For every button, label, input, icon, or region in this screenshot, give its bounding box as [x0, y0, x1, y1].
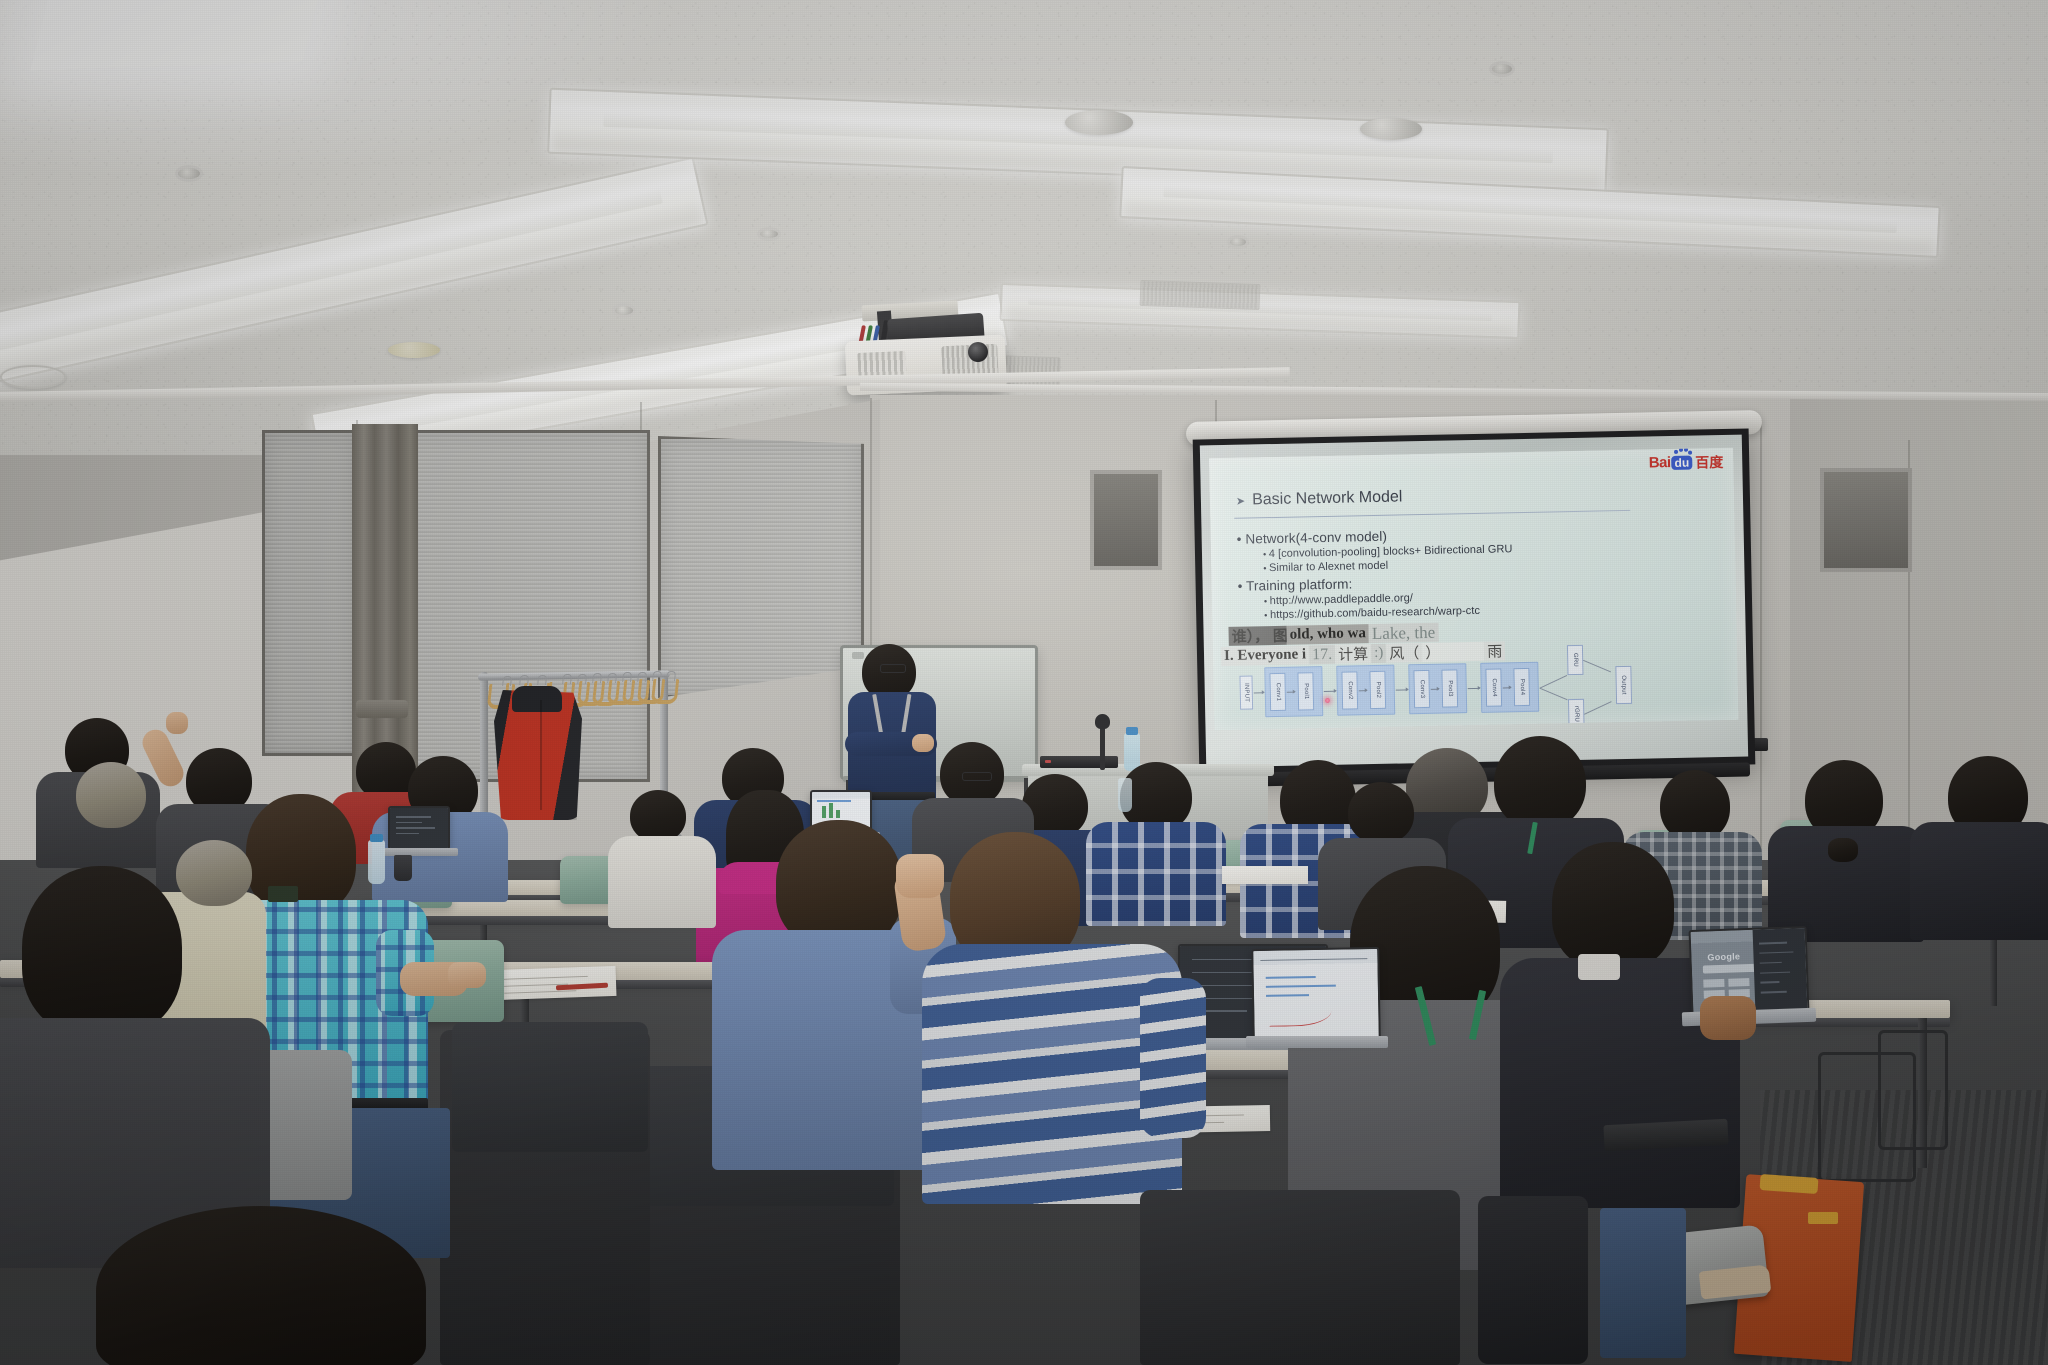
laptop-screen-plot[interactable]: [1251, 947, 1381, 1041]
person-head: [1348, 782, 1414, 844]
presenter-hand: [912, 734, 934, 752]
diagram-connector: [1540, 675, 1568, 689]
diagram-node-pool1: Pool1: [1297, 672, 1314, 710]
ceiling-speaker-icon: [1065, 110, 1133, 135]
diagram-node-label: rGRU: [1573, 706, 1579, 722]
slide-title: Basic Network Model: [1252, 488, 1403, 509]
paw-print-icon: [1674, 448, 1692, 457]
baidu-logo-du-text: du: [1674, 455, 1689, 469]
slide-title-divider: [1234, 510, 1630, 519]
diagram-connector: [1540, 688, 1568, 701]
window-with-blinds: [658, 436, 864, 698]
ocr-chip: old, who wa: [1286, 624, 1369, 645]
person-hand: [448, 962, 486, 988]
diagram-arrow: [1287, 692, 1295, 693]
chair-frame[interactable]: [1878, 1030, 1948, 1150]
paper-sheet: [1222, 866, 1308, 884]
whiteboard-magnet: [852, 652, 864, 659]
person-head: [246, 794, 356, 914]
diagram-node-label: INPUT: [1243, 683, 1249, 702]
shortcut-tile[interactable]: [1704, 978, 1725, 987]
diagram-arrow: [1359, 690, 1367, 691]
microphone-icon: [1095, 714, 1110, 729]
diagram-connector: [1584, 701, 1612, 715]
diagram-node-label: Pool2: [1375, 682, 1381, 698]
person-head: [1552, 842, 1674, 970]
diagram-node-output: Output: [1615, 666, 1632, 704]
laptop-screen[interactable]: [388, 806, 450, 850]
diagram-arrow: [1254, 692, 1264, 693]
bottle-cap: [370, 834, 383, 842]
person-head: [1828, 838, 1858, 862]
slide-body: Network(4-conv model) 4 [convolution-poo…: [1236, 518, 1726, 624]
status-led: [1045, 760, 1051, 763]
person-torso: [1086, 822, 1226, 926]
wall-seam: [1760, 420, 1762, 850]
person-head: [1494, 736, 1586, 830]
chair[interactable]: [1140, 1190, 1460, 1365]
google-logo-text: Google: [1707, 952, 1740, 963]
person-head: [776, 820, 902, 948]
diagram-node-label: Pool4: [1519, 679, 1525, 695]
ceiling-skylight-panel: [30, 0, 324, 71]
jacket-zipper: [540, 700, 542, 810]
glasses-icon: [962, 772, 992, 781]
diagram-node-conv4: Conv4: [1485, 668, 1502, 706]
baidu-logo: Bai du 百度: [1649, 454, 1724, 470]
diagram-node-gru: GRU: [1567, 645, 1584, 675]
jacket-hood: [512, 686, 562, 712]
water-bottle: [1124, 733, 1140, 771]
water-bottle: [1118, 778, 1132, 812]
bag-dark: [1478, 1196, 1588, 1364]
smoke-detector-icon: [178, 168, 200, 179]
water-bottle: [368, 840, 385, 884]
diagram-node-pool4: Pool4: [1513, 668, 1530, 706]
diagram-arrow: [1468, 688, 1480, 689]
baidu-logo-chinese: 百度: [1695, 454, 1723, 469]
coat-draped: [452, 1022, 648, 1152]
diagram-node-input: INPUT: [1239, 675, 1253, 709]
microphone-stem: [1100, 724, 1105, 770]
diagram-node-label: GRU: [1572, 653, 1578, 667]
projection-screen: Bai du 百度 ➤ Basic Network Model Network(…: [1200, 435, 1748, 768]
person-head: [176, 840, 252, 906]
window-curtain: [352, 424, 418, 796]
diagram-node-label: Pool1: [1303, 683, 1309, 699]
person-jeans: [1600, 1208, 1686, 1358]
person-arm: [1140, 978, 1206, 1138]
ocr-chip: 谁）， 图: [1228, 626, 1286, 646]
diagram-node-pool2: Pool2: [1369, 671, 1386, 709]
baidu-logo-bai: Bai: [1649, 455, 1671, 470]
person-head: [22, 866, 182, 1036]
diagram-connector: [1583, 660, 1611, 673]
baidu-logo-du: du: [1671, 455, 1692, 469]
coffee-cup: [394, 855, 412, 881]
person-torso: [1910, 822, 2048, 940]
bullet-arrow-icon: ➤: [1236, 494, 1245, 507]
slide-title-row: ➤ Basic Network Model: [1236, 482, 1710, 510]
person-head: [76, 762, 146, 828]
diagram-node-label: Conv2: [1347, 681, 1353, 699]
person-hand-on-laptop: [1700, 996, 1756, 1040]
av-control-device[interactable]: [1040, 756, 1118, 768]
bottle-cap: [1126, 727, 1138, 735]
diagram-node-pool3: Pool3: [1441, 669, 1458, 707]
ceiling-vent: [1140, 280, 1261, 310]
wall-panel-dark: [1090, 470, 1162, 570]
ceiling-speaker-icon: [1360, 118, 1422, 140]
smoke-detector-icon: [1492, 64, 1512, 74]
diagram-node-conv1: Conv1: [1269, 673, 1286, 711]
diagram-node-conv3: Conv3: [1413, 670, 1430, 708]
ceiling-speaker-icon: [0, 365, 66, 389]
diagram-node-label: Conv3: [1419, 680, 1425, 698]
wall-panel-dark: [1820, 468, 1912, 572]
laptop-keyboard[interactable]: [1246, 1036, 1388, 1048]
person-head-foreground: [96, 1206, 426, 1365]
diagram-arrow: [1431, 689, 1439, 690]
person-head: [630, 790, 686, 842]
person-hand: [166, 712, 188, 734]
diagram-node-label: Output: [1621, 675, 1627, 694]
shirt-collar: [1578, 954, 1620, 980]
glasses-icon: [880, 664, 906, 673]
laser-pointer-dot: [1325, 698, 1330, 703]
smoke-detector-icon: [760, 230, 778, 238]
shirt-badge: [268, 886, 298, 902]
smoke-detector-icon: [1230, 238, 1246, 246]
presentation-slide: Bai du 百度 ➤ Basic Network Model Network(…: [1209, 448, 1738, 730]
lecture-hall-photo: Bai du 百度 ➤ Basic Network Model Network(…: [0, 0, 2048, 1365]
smoke-detector-icon: [615, 306, 633, 315]
diagram-node-rgru: rGRU: [1568, 699, 1585, 729]
diagram-node-label: Conv1: [1275, 683, 1281, 701]
shortcut-tile[interactable]: [1729, 978, 1750, 987]
projector-lens: [968, 342, 988, 362]
diagram-node-label: Pool3: [1447, 680, 1453, 696]
person-torso: [608, 836, 716, 928]
curtain-tieback: [356, 700, 408, 718]
ceiling-speaker-icon: [388, 342, 440, 358]
diagram-arrow: [1396, 689, 1408, 690]
diagram-node-label: Conv4: [1491, 678, 1497, 696]
diagram-arrow: [1324, 691, 1336, 692]
diagram-node-conv2: Conv2: [1341, 671, 1358, 709]
ocr-chip: Lake, the: [1369, 623, 1439, 643]
clothes-hanger: [651, 679, 680, 704]
window-with-blinds: [262, 430, 358, 756]
bag-handle: [1808, 1212, 1838, 1224]
diagram-arrow: [1503, 687, 1511, 688]
editor-pane[interactable]: [1752, 928, 1807, 1012]
network-architecture-diagram: INPUT Conv1 Pool1 Conv2: [1231, 654, 1728, 722]
person-hand: [896, 854, 944, 898]
